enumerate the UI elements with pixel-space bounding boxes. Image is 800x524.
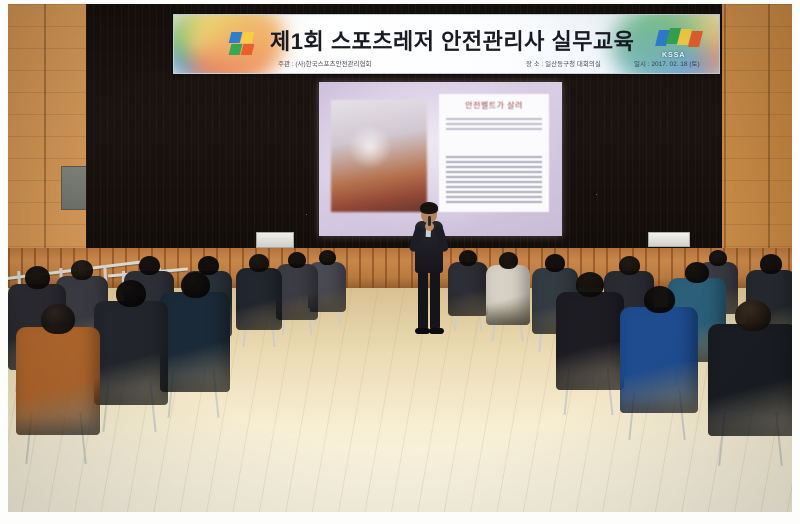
audience-member-coat: [16, 327, 100, 435]
slide-photo: [331, 100, 427, 212]
audience-member-coat: [708, 324, 792, 436]
audience-member-head: [116, 280, 146, 307]
audience-member-head: [459, 250, 477, 266]
banner-title: 제1회 스포츠레저 안전관리사 실무교육: [270, 24, 655, 56]
presenter-hair: [420, 202, 438, 214]
audience-member-coat: [94, 301, 168, 405]
audience-member: [94, 280, 168, 411]
audience-member-coat: [486, 265, 530, 325]
audience-member-coat: [448, 262, 488, 316]
audience-member-head: [760, 254, 782, 274]
slide-text-card: 안전벨트가 살려: [439, 94, 549, 212]
audience-member-coat: [236, 268, 282, 330]
audience-member-coat: [620, 307, 698, 413]
audience-member-head: [644, 286, 675, 313]
presenter-leg: [430, 270, 440, 330]
photo-print-frame: 안전벨트가 살려 제1회 스포츠레저 안전관리사 실무교육 주: [0, 0, 800, 524]
event-banner: 제1회 스포츠레저 안전관리사 실무교육 주관 : (사)한국스포츠안전관리협회…: [173, 14, 720, 74]
banner-subline: 주관 : (사)한국스포츠안전관리협회 장 소 : 일산동구청 대회의실 일시 …: [274, 58, 659, 70]
audience-member: [448, 250, 488, 320]
audience-member-coat: [160, 292, 230, 392]
side-table-right: [648, 232, 690, 247]
audience-member-head: [41, 304, 75, 334]
audience-member-head: [685, 262, 709, 283]
slide-heading: 안전벨트가 살려: [439, 100, 549, 111]
audience-member-head: [576, 272, 604, 297]
kssa-logo-text: KSSA: [662, 52, 685, 59]
presenter-shoe: [429, 328, 444, 334]
audience-member: [620, 286, 698, 419]
audience-member: [160, 272, 230, 398]
photograph: 안전벨트가 살려 제1회 스포츠레저 안전관리사 실무교육 주: [8, 4, 792, 512]
banner-date-label: 일시 : 2017. 02. 18 (토): [634, 58, 700, 68]
presenter-leg: [418, 270, 428, 330]
audience-member-head: [545, 254, 565, 272]
audience-member: [708, 300, 792, 443]
microphone-icon: [428, 216, 431, 226]
audience-member: [276, 252, 318, 324]
audience-member-head: [139, 256, 160, 275]
audience-member-head: [319, 250, 336, 265]
side-table-left: [256, 232, 294, 248]
audience-member: [556, 272, 624, 395]
audience-member: [236, 254, 282, 334]
kssa-logo-icon: KSSA: [657, 28, 703, 58]
audience-member: [486, 252, 530, 329]
banner-place-label: 장 소 : 일산동구청 대회의실: [526, 58, 601, 68]
audience-member-head: [25, 266, 50, 289]
audience-member-head: [249, 254, 269, 272]
audience-member-head: [735, 300, 771, 331]
audience-member-head: [288, 252, 306, 268]
audience-member-head: [499, 252, 518, 269]
banner-host-label: 주관 : (사)한국스포츠안전관리협회: [278, 58, 371, 68]
audience-member-head: [71, 260, 93, 280]
banner-swoosh-left: [173, 14, 284, 74]
audience-member: [16, 304, 100, 442]
presenter-shoe: [415, 328, 430, 334]
audience-member-head: [181, 272, 210, 298]
slide-body-lines: [446, 156, 542, 206]
presenter: [410, 204, 448, 344]
audience-member-coat: [556, 292, 624, 390]
audience-member-coat: [276, 264, 318, 320]
pinwheel-logo-icon: [230, 32, 258, 56]
slide-subheading-lines: [446, 118, 542, 133]
